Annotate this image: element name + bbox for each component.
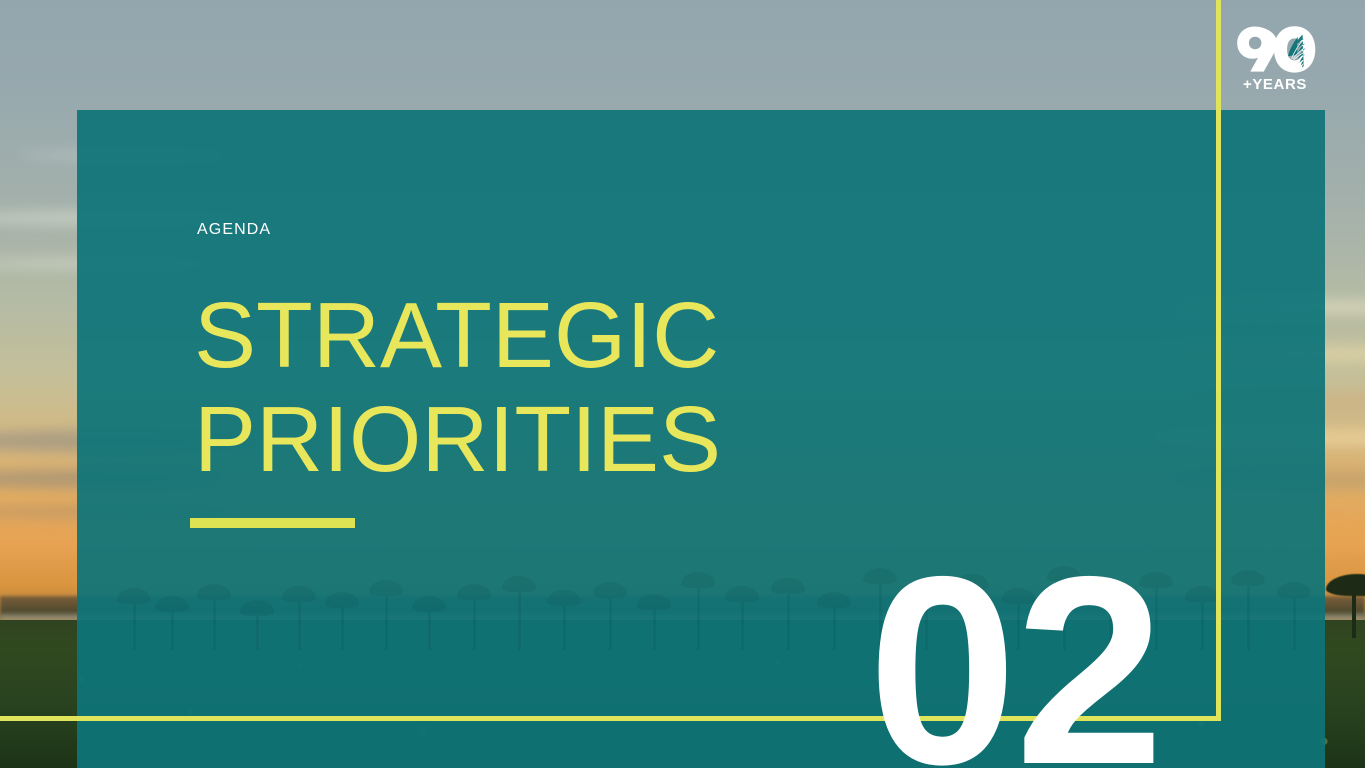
page-title: STRATEGIC PRIORITIES [194,283,721,491]
logo-mark-icon: +YEARS [1234,25,1316,95]
palm-trunk [1352,586,1356,638]
vertical-accent-line [1216,0,1221,721]
logo-subtext: +YEARS [1243,76,1307,93]
palm-crown [1326,574,1365,596]
title-accent-bar [190,518,355,528]
section-eyebrow-label: AGENDA [197,221,271,239]
section-number: 02 [868,536,1162,768]
presentation-slide: AGENDA STRATEGIC PRIORITIES 02 +YEARS [0,0,1365,768]
palm-tree-silhouette [1330,560,1365,640]
ninety-years-logo: +YEARS [1234,25,1316,95]
